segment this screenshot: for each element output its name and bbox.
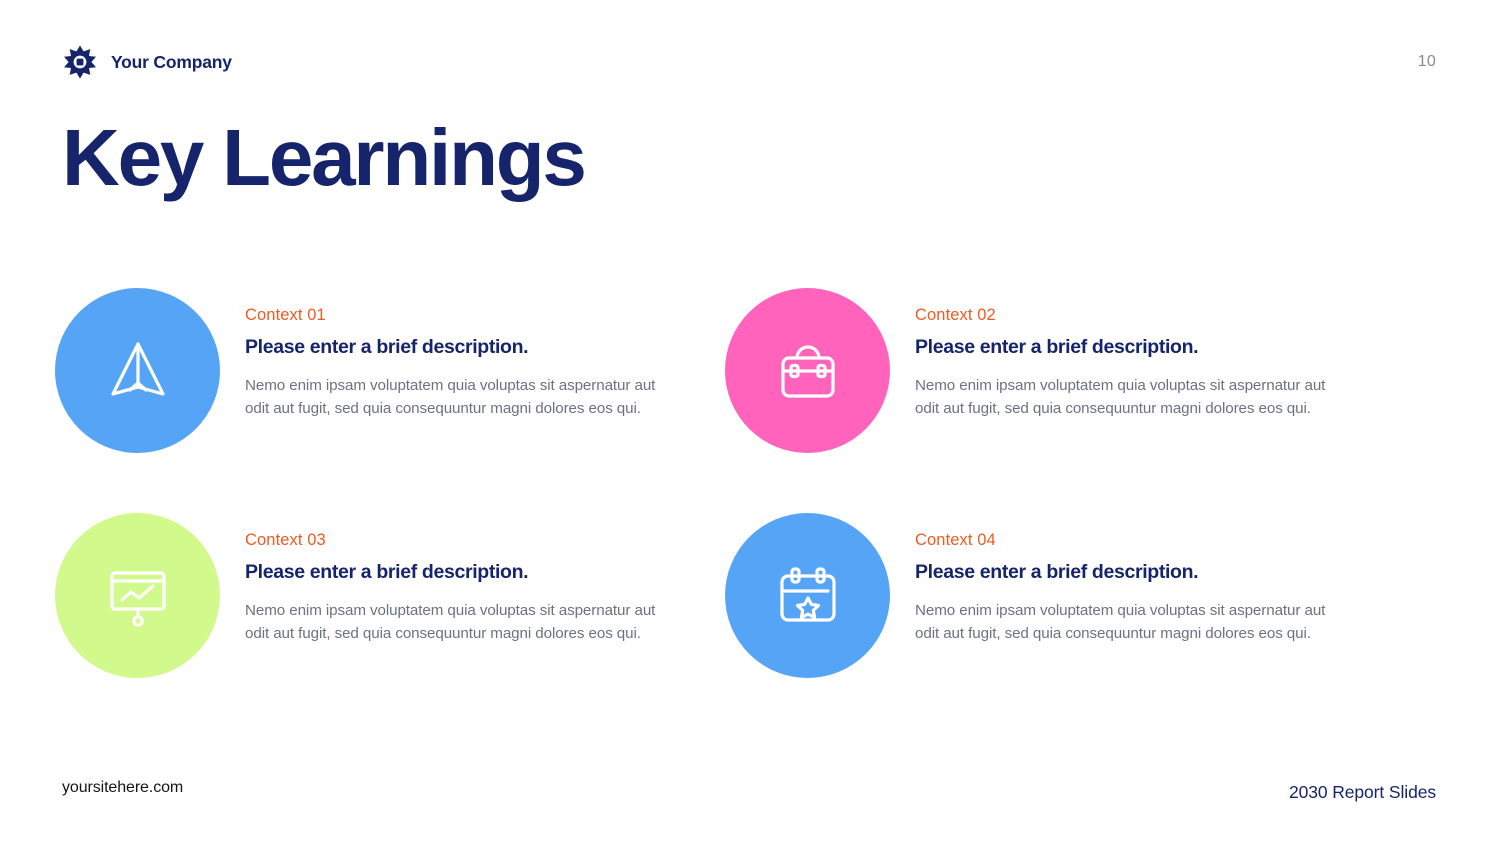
card-eyebrow: Context 04 [915, 531, 1335, 550]
learning-card: Context 03 Please enter a brief descript… [55, 513, 715, 738]
card-eyebrow: Context 03 [245, 531, 665, 550]
card-body: Context 04 Please enter a brief descript… [915, 513, 1335, 645]
starburst-logo-icon [62, 44, 98, 80]
page-number: 10 [1418, 53, 1436, 71]
brand-name: Your Company [111, 52, 232, 73]
card-icon-badge [725, 513, 890, 678]
card-description: Nemo enim ipsam voluptatem quia voluptas… [245, 600, 665, 645]
card-body: Context 01 Please enter a brief descript… [245, 288, 665, 420]
card-heading: Please enter a brief description. [245, 336, 665, 359]
card-description: Nemo enim ipsam voluptatem quia voluptas… [915, 600, 1335, 645]
footer-website[interactable]: yoursitehere.com [62, 779, 183, 797]
card-icon-badge [725, 288, 890, 453]
footer-deck-title: 2030 Report Slides [1289, 782, 1436, 803]
card-heading: Please enter a brief description. [915, 336, 1335, 359]
card-icon-badge [55, 288, 220, 453]
briefcase-icon [771, 334, 845, 408]
learning-card: Context 02 Please enter a brief descript… [725, 288, 1385, 513]
learnings-grid: Context 01 Please enter a brief descript… [55, 288, 1385, 738]
card-body: Context 02 Please enter a brief descript… [915, 288, 1335, 420]
brand-lockup: Your Company [62, 44, 232, 80]
presentation-chart-icon [101, 559, 175, 633]
calendar-star-icon [771, 559, 845, 633]
card-description: Nemo enim ipsam voluptatem quia voluptas… [245, 375, 665, 420]
learning-card: Context 01 Please enter a brief descript… [55, 288, 715, 513]
page-title: Key Learnings [62, 117, 585, 199]
card-body: Context 03 Please enter a brief descript… [245, 513, 665, 645]
card-description: Nemo enim ipsam voluptatem quia voluptas… [915, 375, 1335, 420]
card-icon-badge [55, 513, 220, 678]
paper-plane-icon [101, 334, 175, 408]
card-eyebrow: Context 01 [245, 306, 665, 325]
slide-key-learnings: Your Company 10 Key Learnings Context 01… [0, 0, 1500, 844]
card-eyebrow: Context 02 [915, 306, 1335, 325]
learning-card: Context 04 Please enter a brief descript… [725, 513, 1385, 738]
card-heading: Please enter a brief description. [915, 561, 1335, 584]
card-heading: Please enter a brief description. [245, 561, 665, 584]
